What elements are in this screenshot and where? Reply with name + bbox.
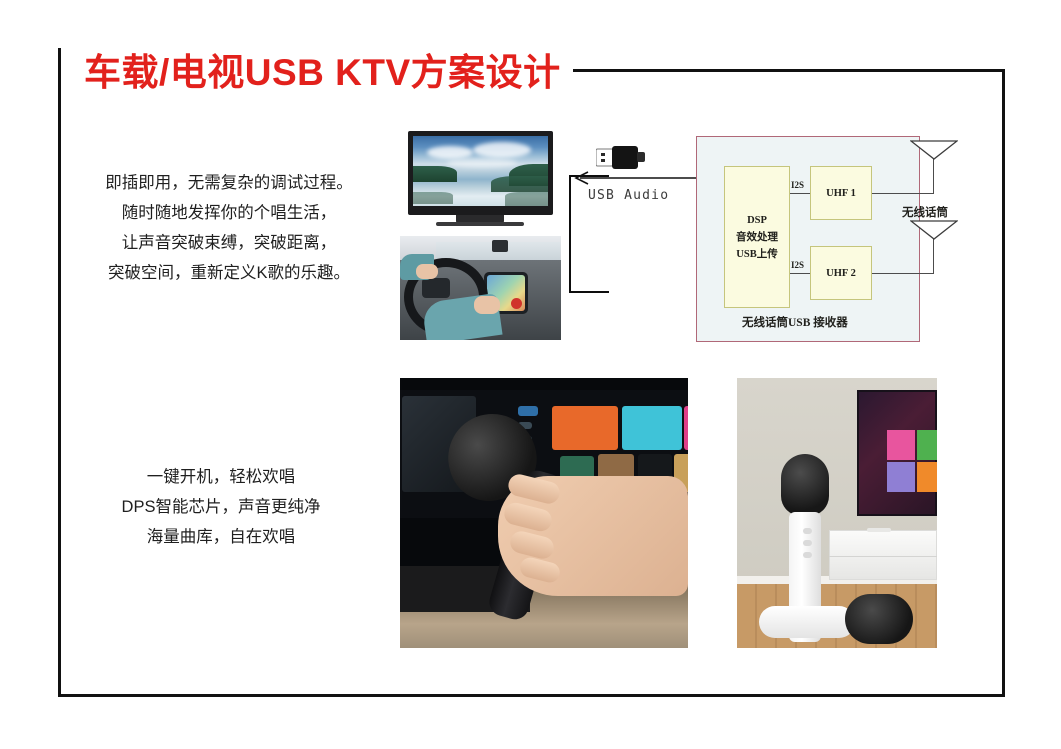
i2s-bus-bottom-label: I2S — [791, 260, 804, 270]
screen-tile — [684, 406, 688, 450]
car-interior-photo — [400, 236, 561, 340]
antenna-2-icon — [910, 220, 958, 240]
tv-screen-landscape — [413, 136, 548, 206]
antenna-1-icon — [910, 140, 958, 160]
frame-left-border — [58, 48, 61, 697]
feature-text-top-line-2: 随时随地发挥你的个唱生活， — [70, 198, 388, 228]
usb-connector-icon — [596, 144, 648, 170]
cabinet-object — [867, 528, 891, 532]
cloud-shape — [427, 146, 473, 159]
i2s-bus-top-label: I2S — [791, 180, 804, 190]
tv-tile — [917, 430, 937, 460]
feature-text-top-line-3: 让声音突破束缚，突破距离， — [70, 228, 388, 258]
feature-text-bottom-line-1: 一键开机，轻松欢唱 — [62, 462, 380, 492]
uhf2-antenna-link — [872, 273, 934, 274]
i2s-bus-bottom-line — [790, 273, 810, 274]
frame-bottom-border — [58, 694, 1005, 697]
tv-bezel — [408, 131, 553, 215]
driver-hand-on-screen — [474, 296, 500, 314]
dsp-label-line-1: DSP — [747, 212, 767, 229]
wireless-mic-label: 无线话筒 — [902, 204, 948, 220]
hill-reflection — [505, 192, 548, 206]
cloud-shape — [447, 158, 517, 168]
screen-tile — [552, 406, 618, 450]
car-screen-red-button — [511, 298, 522, 309]
microphone-button — [803, 540, 812, 546]
uhf2-block: UHF 2 — [810, 246, 872, 300]
feature-text-top-line-1: 即插即用，无需复杂的调试过程。 — [70, 168, 388, 198]
tv-photo — [400, 127, 561, 231]
page-title: 车载/电视USB KTV方案设计 — [84, 42, 561, 96]
tv-tile — [887, 430, 915, 460]
cloud-shape — [473, 142, 531, 158]
feature-text-bottom-line-3: 海量曲库，自在欢唱 — [62, 522, 380, 552]
living-room-photo — [737, 378, 937, 648]
feature-text-bottom-line-2: DPS智能芯片，声音更纯净 — [62, 492, 380, 522]
uhf2-antenna-stem — [933, 238, 934, 274]
tv-foot — [436, 222, 524, 226]
tv-cabinet — [829, 530, 937, 580]
dsp-block: DSP 音效处理 USB上传 — [724, 166, 790, 308]
uhf1-block: UHF 1 — [810, 166, 872, 220]
hill-reflection — [413, 192, 453, 204]
microphone-button — [803, 528, 812, 534]
microphone-button — [803, 552, 812, 558]
wall-mounted-tv — [857, 390, 937, 516]
receiver-caption: 无线话筒USB 接收器 — [742, 314, 848, 330]
screen-tile — [518, 406, 538, 416]
steering-wheel-hub — [422, 278, 450, 298]
system-block-diagram: USB Audio DSP 音效处理 USB上传 UHF 1 UHF 2 I2S… — [570, 122, 1010, 352]
uhf2-label: UHF 2 — [826, 265, 856, 282]
rearview-mirror — [492, 240, 508, 252]
feature-text-top: 即插即用，无需复杂的调试过程。 随时随地发挥你的个唱生活， 让声音突破束缚，突破… — [70, 168, 388, 288]
feature-text-bottom: 一键开机，轻松欢唱 DPS智能芯片，声音更纯净 海量曲库，自在欢唱 — [62, 462, 380, 552]
mic-in-car-photo — [400, 378, 688, 648]
usb-audio-label: USB Audio — [588, 188, 669, 203]
standing-microphone-foam-head — [781, 454, 829, 516]
usb-audio-arrow — [570, 170, 700, 186]
hill-shape — [491, 176, 548, 192]
uhf1-antenna-link — [872, 193, 934, 194]
screen-tile — [622, 406, 682, 450]
hill-shape — [413, 166, 457, 182]
tv-tile — [887, 462, 915, 492]
driver-hand-on-wheel — [416, 264, 438, 279]
dsp-label-line-3: USB上传 — [736, 246, 777, 263]
tv-tile — [917, 462, 937, 492]
uhf1-antenna-stem — [933, 158, 934, 194]
i2s-bus-top-line — [790, 193, 810, 194]
title-rule — [573, 69, 1005, 72]
lying-microphone-foam-head — [845, 594, 913, 644]
lying-microphone-body — [759, 606, 855, 638]
dsp-label-line-2: 音效处理 — [736, 229, 778, 246]
feature-text-top-line-4: 突破空间，重新定义K歌的乐趣。 — [70, 258, 388, 288]
uhf1-label: UHF 1 — [826, 185, 856, 202]
cabinet-seam — [829, 556, 937, 557]
